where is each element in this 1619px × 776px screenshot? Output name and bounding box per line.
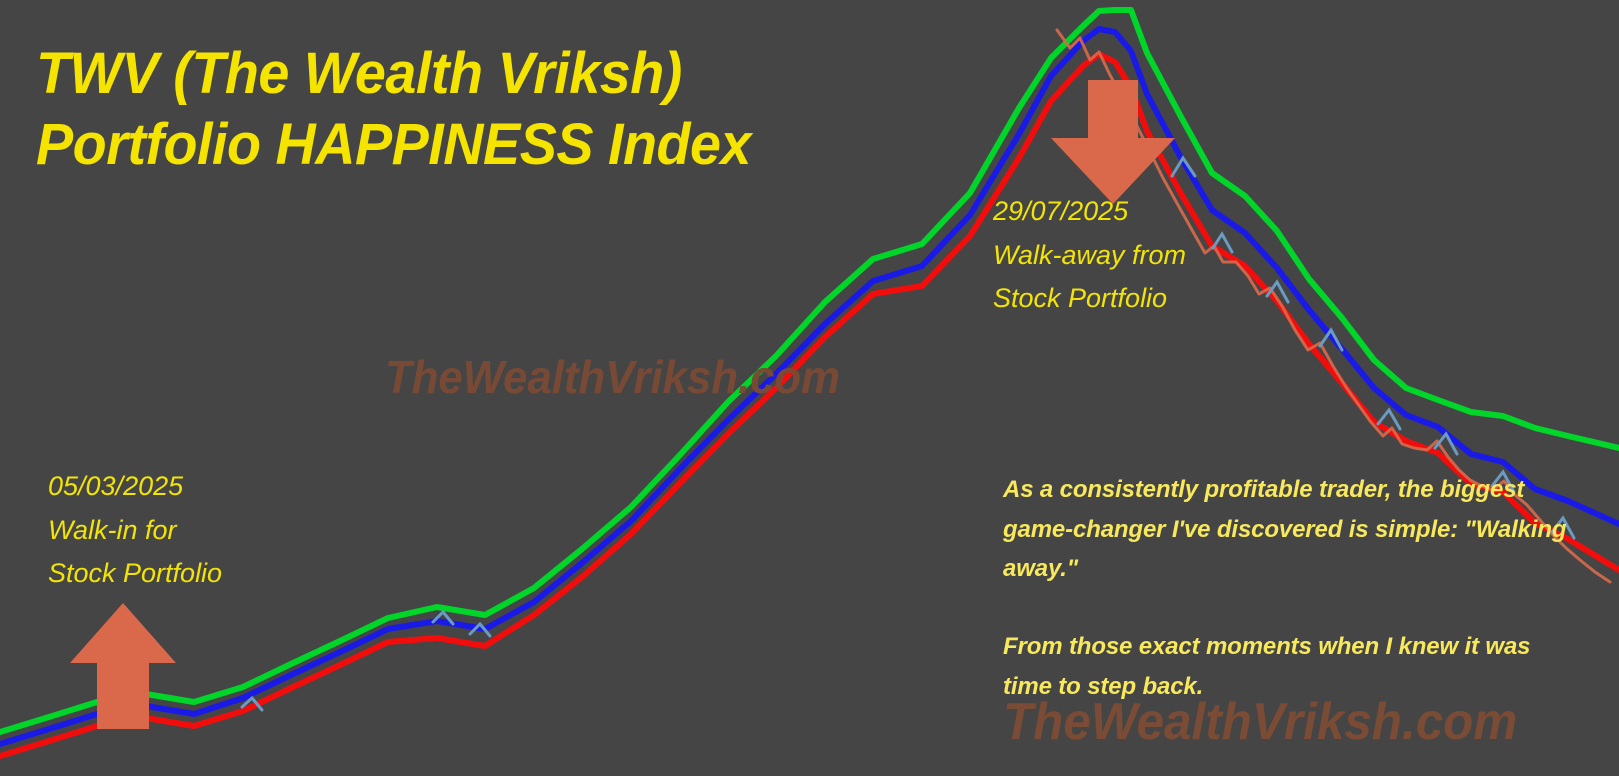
happiness-index-chart	[0, 0, 1619, 776]
chart-canvas: TheWealthVriksh.com TWV (The Wealth Vrik…	[0, 0, 1619, 776]
walk-away-down-arrow-icon	[1051, 80, 1175, 204]
walk-in-up-arrow-icon	[70, 603, 176, 729]
